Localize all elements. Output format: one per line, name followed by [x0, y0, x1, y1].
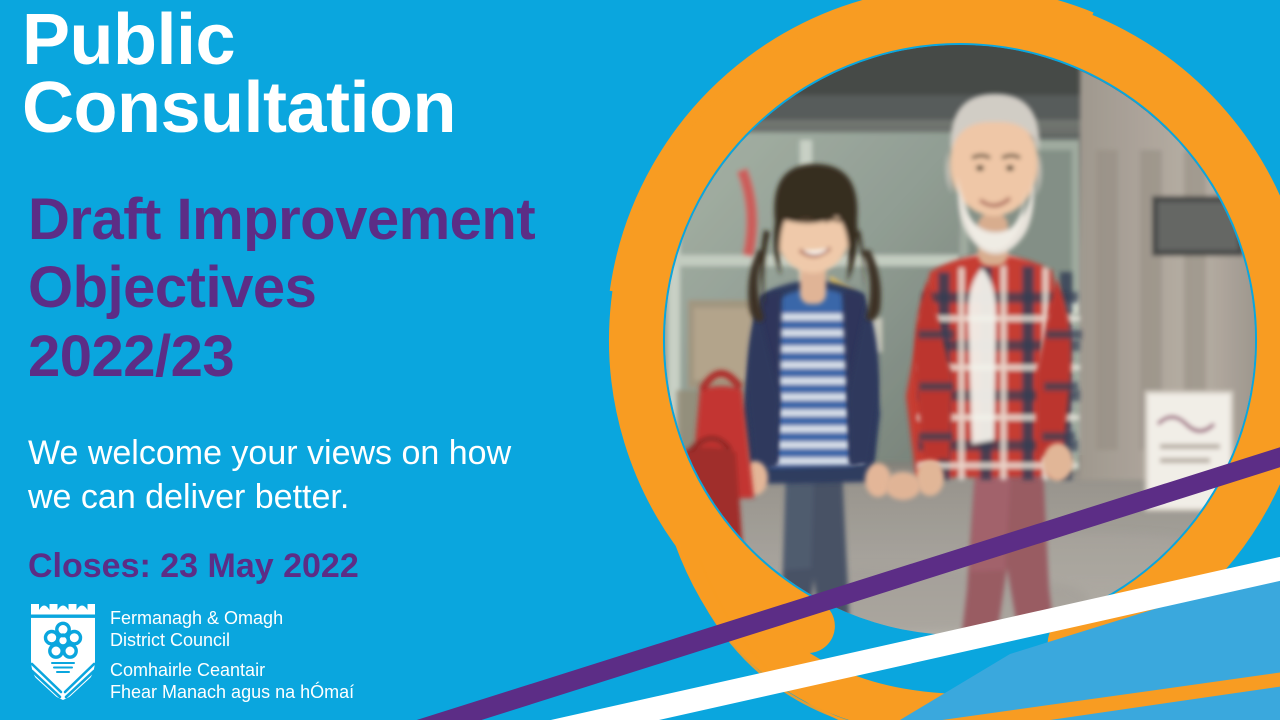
- subtitle-line-1: Draft Improvement: [28, 186, 535, 254]
- poster-canvas: Public Consultation Draft Improvement Ob…: [0, 0, 1280, 720]
- text-column: Public Consultation Draft Improvement Ob…: [22, 0, 622, 720]
- title-line-2: Consultation: [22, 74, 582, 142]
- blurb-line-2: we can deliver better.: [28, 476, 598, 520]
- blurb-text: We welcome your views on how we can deli…: [28, 432, 598, 519]
- subtitle: Draft Improvement Objectives 2022/23: [28, 186, 535, 391]
- logo-irish-line-1: Comhairle Ceantair: [110, 660, 354, 682]
- logo-english-line-1: Fermanagh & Omagh: [110, 608, 354, 630]
- deadline-text: Closes: 23 May 2022: [28, 547, 359, 586]
- blurb-line-1: We welcome your views on how: [28, 432, 598, 476]
- council-logo: Fermanagh & Omagh District Council Comha…: [28, 602, 354, 703]
- logo-wordmark: Fermanagh & Omagh District Council Comha…: [110, 608, 354, 703]
- subtitle-line-2: Objectives: [28, 254, 535, 322]
- subtitle-line-3: 2022/23: [28, 323, 535, 391]
- title-line-1: Public: [22, 6, 582, 74]
- logo-english-line-2: District Council: [110, 630, 354, 652]
- logo-irish-line-2: Fhear Manach agus na hÓmaí: [110, 682, 354, 704]
- page-title: Public Consultation: [22, 6, 582, 143]
- shield-crest-icon: [28, 602, 98, 702]
